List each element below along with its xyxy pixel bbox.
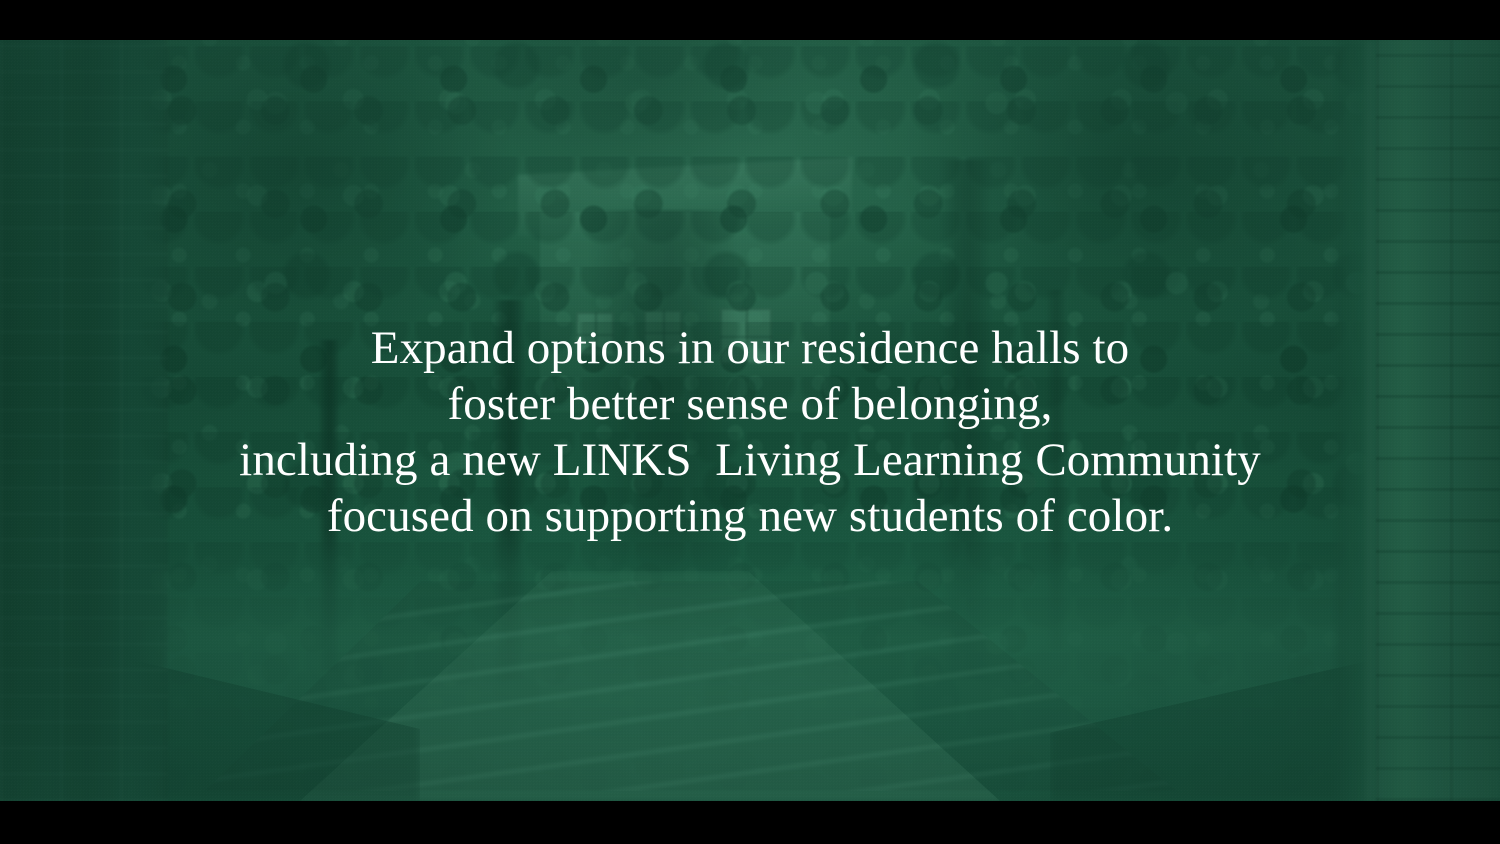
video-frame: Expand options in our residence halls to… xyxy=(0,0,1500,844)
caption-line-2: foster better sense of belonging, xyxy=(0,376,1500,432)
caption-text: Expand options in our residence halls to… xyxy=(0,320,1500,544)
caption-line-1: Expand options in our residence halls to xyxy=(0,320,1500,376)
letterbox-bar-bottom xyxy=(0,801,1500,844)
caption-line-4: focused on supporting new students of co… xyxy=(0,488,1500,544)
letterbox-bar-top xyxy=(0,0,1500,40)
caption-line-3: including a new LINKS Living Learning Co… xyxy=(0,432,1500,488)
